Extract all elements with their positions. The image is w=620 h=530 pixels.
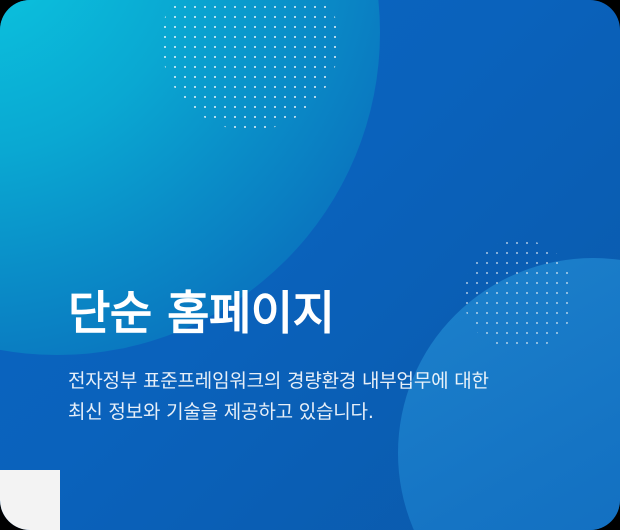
- hero-description: 전자정부 표준프레임워크의 경량환경 내부업무에 대한 최신 정보와 기술을 제…: [68, 366, 578, 428]
- hero-description-line-1: 전자정부 표준프레임워크의 경량환경 내부업무에 대한: [68, 366, 578, 397]
- hero-banner: 단순 홈페이지 전자정부 표준프레임워크의 경량환경 내부업무에 대한 최신 정…: [0, 0, 620, 530]
- page-title: 단순 홈페이지: [68, 286, 578, 340]
- hero-description-line-2: 최신 정보와 기술을 제공하고 있습니다.: [68, 397, 578, 428]
- page-background-bleed: [0, 470, 60, 530]
- hero-content: 단순 홈페이지 전자정부 표준프레임워크의 경량환경 내부업무에 대한 최신 정…: [68, 286, 578, 428]
- dot-grid-pattern-top-icon: [150, 0, 350, 142]
